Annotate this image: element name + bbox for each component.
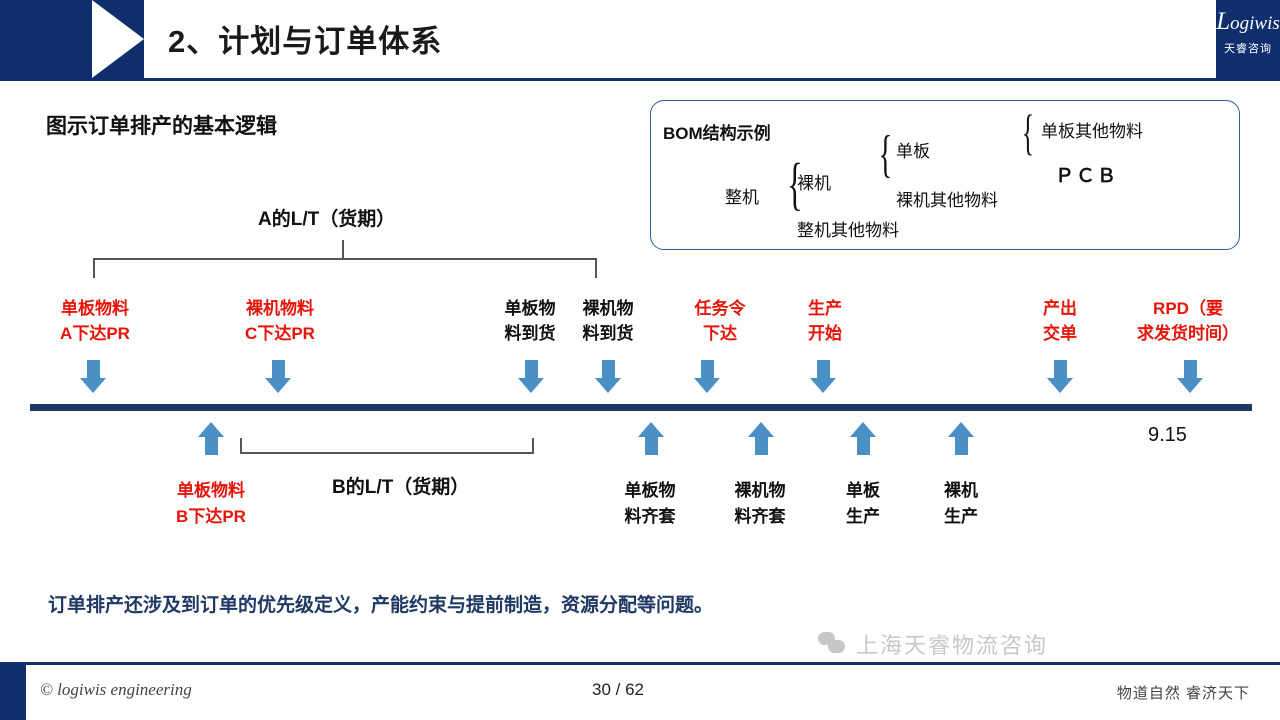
down-arrow-icon-7 <box>1177 360 1203 393</box>
watermark-text: 上海天睿物流咨询 <box>856 628 1048 660</box>
timeline-top-event-5: 生产 开始 <box>775 296 875 346</box>
timeline-bottom-event-3: 单板 生产 <box>820 478 906 530</box>
bom-level2-bottom: 整机其他物料 <box>797 216 899 241</box>
bom-level4-bottom: ＰＣＢ <box>1055 161 1118 188</box>
bom-brace-3-icon: { <box>1022 107 1034 157</box>
header-divider <box>0 78 1280 81</box>
timeline-top-event-7: RPD（要 求发货时间） <box>1108 296 1268 346</box>
timeline-top-event-1: 裸机物料 C下达PR <box>205 296 355 346</box>
up-arrow-icon-3 <box>850 422 876 455</box>
up-arrow-icon-4 <box>948 422 974 455</box>
wechat-icon <box>818 632 846 656</box>
summary-note: 订单排产还涉及到订单的优先级定义，产能约束与提前制造，资源分配等问题。 <box>48 590 713 617</box>
footer-divider <box>0 662 1280 665</box>
down-arrow-icon-6 <box>1047 360 1073 393</box>
lead-time-b-label: B的L/T（货期） <box>332 472 469 499</box>
lead-time-a-label: A的L/T（货期） <box>258 204 395 231</box>
bom-title: BOM结构示例 <box>663 119 771 144</box>
timeline-top-event-3: 裸机物 料到货 <box>548 296 668 346</box>
timeline-axis <box>30 404 1252 411</box>
lead-time-a-bracket <box>93 258 597 278</box>
logo-initial: L <box>1216 8 1230 35</box>
logo-rest: ogiwis <box>1230 13 1280 34</box>
logo-wordmark: Logiwis <box>1216 12 1280 34</box>
timeline-bottom-event-0: 单板物料 B下达PR <box>136 478 286 530</box>
timeline-bottom-event-1: 单板物 料齐套 <box>590 478 710 530</box>
bom-structure-box: BOM结构示例 整机 { 裸机 整机其他物料 { 单板 裸机其他物料 { 单板其… <box>650 100 1240 250</box>
page-number: 30 / 62 <box>592 680 644 700</box>
down-arrow-icon-2 <box>518 360 544 393</box>
up-arrow-icon-1 <box>638 422 664 455</box>
watermark: 上海天睿物流咨询 <box>818 628 1048 660</box>
timeline-top-event-6: 产出 交单 <box>1010 296 1110 346</box>
copyright-text: © logiwis engineering <box>40 680 192 700</box>
up-arrow-icon-2 <box>748 422 774 455</box>
slide: 2、计划与订单体系 Logiwis 天睿咨询 图示订单排产的基本逻辑 BOM结构… <box>0 0 1280 720</box>
down-arrow-icon-4 <box>694 360 720 393</box>
down-arrow-icon-3 <box>595 360 621 393</box>
down-arrow-icon-0 <box>80 360 106 393</box>
bom-brace-2-icon: { <box>879 129 893 181</box>
up-arrow-icon-0 <box>198 422 224 455</box>
bom-level2-top: 裸机 <box>797 169 831 194</box>
bom-level1: 整机 <box>725 183 759 208</box>
header-arrow-shape <box>92 0 144 78</box>
down-arrow-icon-1 <box>265 360 291 393</box>
down-arrow-icon-5 <box>810 360 836 393</box>
section-subtitle: 图示订单排产的基本逻辑 <box>46 110 277 140</box>
company-logo: Logiwis 天睿咨询 <box>1216 0 1280 78</box>
timeline-end-date: 9.15 <box>1148 424 1187 447</box>
timeline-top-event-0: 单板物料 A下达PR <box>20 296 170 346</box>
bom-level3-bottom: 裸机其他物料 <box>896 186 998 211</box>
slide-header: 2、计划与订单体系 Logiwis 天睿咨询 <box>0 0 1280 78</box>
timeline-top-event-4: 任务令 下达 <box>660 296 780 346</box>
timeline-bottom-event-2: 裸机物 料齐套 <box>700 478 820 530</box>
logo-subtitle: 天睿咨询 <box>1216 40 1280 56</box>
timeline-bottom-event-4: 裸机 生产 <box>918 478 1004 530</box>
footer-accent-block <box>0 665 26 720</box>
page-title: 2、计划与订单体系 <box>168 16 442 61</box>
bom-level3-top: 单板 <box>896 137 930 162</box>
lead-time-a-stem <box>342 240 344 260</box>
header-blue-block <box>0 0 92 78</box>
lead-time-b-bracket <box>240 438 534 454</box>
footer-tagline: 物道自然 睿济天下 <box>1117 682 1250 703</box>
bom-level4-top: 单板其他物料 <box>1041 117 1143 142</box>
